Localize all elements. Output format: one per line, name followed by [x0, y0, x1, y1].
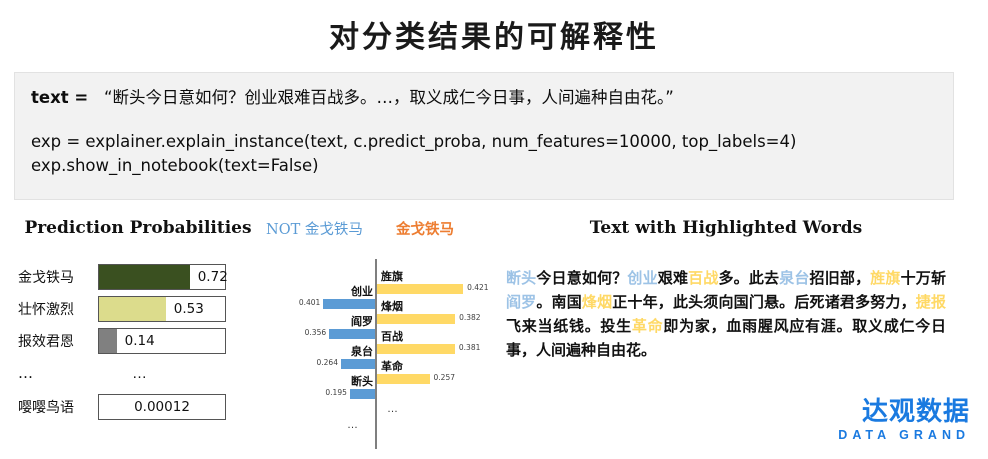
explanation-bar	[377, 314, 455, 324]
prediction-bar-fill	[99, 329, 117, 353]
prediction-bar: 0.00012	[98, 394, 226, 420]
explanation-feature-positive: 革命0.257	[377, 372, 502, 386]
highlight-positive-word: 革命	[632, 317, 663, 335]
explanation-value-label: 0.264	[317, 358, 338, 367]
code-block: text = “断头今日意如何？创业艰难百战多。…，取义成仁今日事，人间遍种自由…	[14, 72, 954, 200]
code-text-value: “断头今日意如何？创业艰难百战多。…，取义成仁今日事，人间遍种自由花。”	[104, 88, 674, 107]
brand-logo: 达观数据 DATA GRAND	[838, 397, 970, 443]
explanation-feature-label: 泉台	[351, 343, 373, 359]
prediction-value: 0.00012	[99, 395, 225, 419]
prediction-bar-fill	[99, 297, 166, 321]
explanation-chart-panel: NOT 金戈铁马 金戈铁马 创业0.401阎罗0.356泉台0.264断头0.1…	[262, 218, 502, 453]
explanation-value-label: 0.421	[467, 283, 488, 292]
highlight-positive-word: 旌旗	[870, 269, 900, 287]
explanation-value-label: 0.257	[434, 373, 455, 382]
prediction-row: 嘤嘤鸟语0.00012	[18, 394, 258, 420]
plain-text: 。南国	[536, 293, 582, 311]
slide-page: 对分类结果的可解释性 text = “断头今日意如何？创业艰难百战多。…，取义成…	[0, 0, 988, 459]
highlight-negative-word: 创业	[627, 269, 657, 287]
explanation-feature-positive: 旌旗0.421	[377, 282, 502, 296]
explanation-feature-negative: 创业0.401	[262, 297, 375, 311]
plain-text: 多。此去	[718, 269, 779, 287]
prediction-row: 报效君恩0.14	[18, 328, 258, 354]
explanation-value-label: 0.381	[459, 343, 480, 352]
explanation-bar	[377, 344, 455, 354]
prediction-row-value: …	[98, 365, 226, 382]
plain-text: 招旧部，	[810, 269, 871, 287]
explanation-ellipsis-negative: …	[347, 419, 359, 431]
page-title: 对分类结果的可解释性	[0, 12, 988, 56]
explanation-feature-negative: 阎罗0.356	[262, 327, 375, 341]
prediction-bar: 0.53	[98, 296, 226, 322]
highlight-positive-word: 捷报	[916, 293, 946, 311]
prediction-value: 0.72	[198, 265, 228, 289]
explanation-feature-label: 烽烟	[381, 298, 403, 314]
code-line-show-notebook: exp.show_in_notebook(text=False)	[31, 155, 937, 177]
explanation-bar	[377, 374, 430, 384]
explanation-value-label: 0.401	[299, 298, 320, 307]
code-var-text: text =	[31, 88, 88, 107]
explanation-feature-label: 旌旗	[381, 268, 403, 284]
brand-logo-cn: 达观数据	[838, 397, 970, 427]
highlight-positive-word: 百战	[688, 269, 718, 287]
plain-text: 今日意如何？	[536, 269, 627, 287]
plain-text: 十万斩	[901, 269, 946, 287]
explanation-value-label: 0.195	[325, 388, 346, 397]
highlight-negative-word: 泉台	[779, 269, 809, 287]
explanation-feature-label: 创业	[351, 283, 373, 299]
prediction-row: 金戈铁马0.72	[18, 264, 258, 290]
explanation-ellipsis-positive: …	[387, 403, 399, 415]
explanation-feature-label: 革命	[381, 358, 403, 374]
explanation-bar	[350, 389, 375, 399]
prediction-bar-fill	[99, 265, 190, 289]
highlight-negative-word: 断头	[506, 269, 536, 287]
prediction-value: 0.14	[125, 329, 155, 353]
plain-text: 飞来当纸钱。投生	[506, 317, 632, 335]
explanation-bar	[323, 299, 375, 309]
prediction-row-label: 报效君恩	[18, 331, 98, 351]
prediction-row: 壮怀激烈0.53	[18, 296, 258, 322]
prediction-value: 0.53	[174, 297, 204, 321]
explanation-feature-label: 百战	[381, 328, 403, 344]
code-line-explain-instance: exp = explainer.explain_instance(text, c…	[31, 131, 937, 153]
highlight-negative-word: 阎罗	[506, 293, 536, 311]
highlighted-text-title: Text with Highlighted Words	[506, 218, 946, 238]
explanation-bar	[377, 284, 463, 294]
legend-negative-label: NOT 金戈铁马	[266, 218, 363, 239]
brand-logo-en: DATA GRAND	[838, 427, 970, 443]
code-line-text-assignment: text = “断头今日意如何？创业艰难百战多。…，取义成仁今日事，人间遍种自由…	[31, 87, 937, 109]
explanation-value-label: 0.356	[305, 328, 326, 337]
explanation-bar	[341, 359, 375, 369]
explanation-feature-label: 断头	[351, 373, 373, 389]
explanation-bar	[329, 329, 375, 339]
prediction-probabilities-list: 金戈铁马0.72壮怀激烈0.53报效君恩0.14……嘤嘤鸟语0.00012	[18, 264, 258, 420]
plain-text: 正十年，此头须向国门悬。后死诸君多努力，	[612, 293, 916, 311]
highlighted-text-body: 断头今日意如何？创业艰难百战多。此去泉台招旧部，旌旗十万斩阎罗。南国烽烟正十年，…	[506, 266, 946, 362]
legend-positive-label: 金戈铁马	[396, 218, 454, 239]
prediction-probabilities-title: Prediction Probabilities	[18, 218, 258, 238]
explanation-chart-plot: 创业0.401阎罗0.356泉台0.264断头0.195旌旗0.421烽烟0.3…	[262, 259, 502, 449]
prediction-row: ……	[18, 360, 258, 386]
explanation-chart-legend: NOT 金戈铁马 金戈铁马	[262, 218, 502, 242]
plain-text: 艰难	[658, 269, 688, 287]
prediction-probabilities-panel: Prediction Probabilities 金戈铁马0.72壮怀激烈0.5…	[18, 218, 258, 426]
explanation-feature-positive: 烽烟0.382	[377, 312, 502, 326]
prediction-row-label: …	[18, 364, 98, 382]
prediction-row-label: 嘤嘤鸟语	[18, 397, 98, 417]
highlight-positive-word: 烽烟	[582, 293, 612, 311]
highlighted-text-panel: Text with Highlighted Words 断头今日意如何？创业艰难…	[506, 218, 946, 362]
prediction-bar: 0.72	[98, 264, 226, 290]
prediction-row-label: 金戈铁马	[18, 267, 98, 287]
explanation-feature-positive: 百战0.381	[377, 342, 502, 356]
prediction-bar: 0.14	[98, 328, 226, 354]
explanation-feature-label: 阎罗	[351, 313, 373, 329]
explanation-feature-negative: 泉台0.264	[262, 357, 375, 371]
explanation-value-label: 0.382	[459, 313, 480, 322]
explanation-feature-negative: 断头0.195	[262, 387, 375, 401]
prediction-row-label: 壮怀激烈	[18, 299, 98, 319]
